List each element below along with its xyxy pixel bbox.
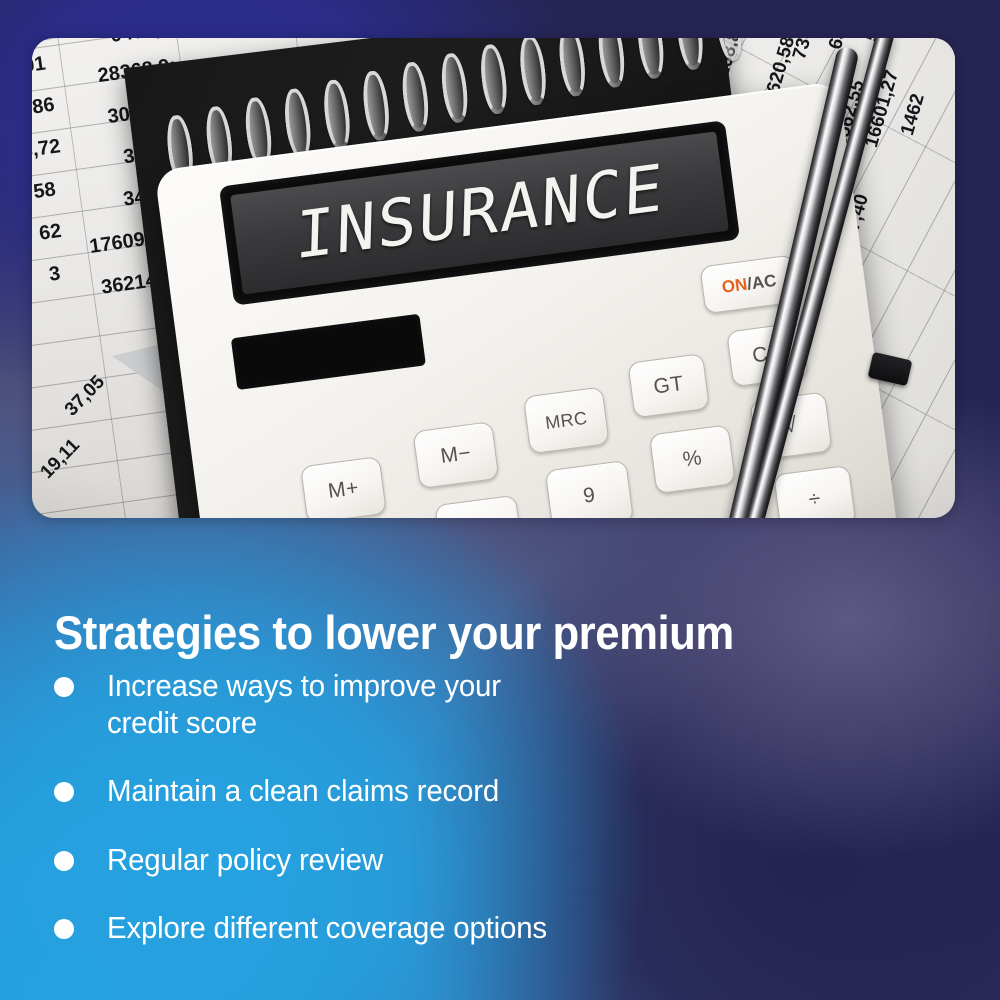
key-mrc[interactable]: MRC xyxy=(523,386,610,454)
key-ac-label: AC xyxy=(751,271,778,294)
page-title: Strategies to lower your premium xyxy=(54,609,734,658)
ledger-value: 62 xyxy=(38,220,63,246)
calculator-lcd: INSURANCE xyxy=(230,131,729,294)
list-item-label: Increase ways to improve your credit sco… xyxy=(107,668,501,741)
bullet-dot-icon xyxy=(54,677,74,697)
key-8[interactable]: 8 xyxy=(434,495,523,518)
spiral-ring xyxy=(713,38,745,62)
list-item: Explore different coverage options xyxy=(54,910,934,947)
solar-panel xyxy=(231,314,426,390)
spiral-ring xyxy=(321,78,353,150)
bullet-dot-icon xyxy=(54,851,74,871)
spiral-ring xyxy=(674,38,706,71)
list-item-label: Maintain a clean claims record xyxy=(107,773,499,810)
bullet-dot-icon xyxy=(54,919,74,939)
key-m-plus[interactable]: M+ xyxy=(300,456,387,518)
key-9[interactable]: 9 xyxy=(545,460,634,518)
slide-card: 0407,68 28368,9; 30330 3221 34252 176097… xyxy=(0,0,1000,1000)
key-on-label: ON xyxy=(721,275,749,298)
spiral-ring xyxy=(438,52,470,124)
list-item: Increase ways to improve your credit sco… xyxy=(54,668,934,741)
ledger-value: 9,86 xyxy=(32,94,56,122)
list-item-label: Regular policy review xyxy=(107,842,383,879)
spiral-ring xyxy=(595,38,627,89)
ledger-value: ,01 xyxy=(32,52,47,79)
key-gt[interactable]: GT xyxy=(627,353,710,418)
ledger-value: 3,72 xyxy=(32,135,62,163)
list-item: Maintain a clean claims record xyxy=(54,773,934,810)
spiral-ring xyxy=(634,38,666,80)
list-item: Regular policy review xyxy=(54,842,934,879)
ledger-value: 485,16 xyxy=(897,38,934,40)
ledger-value: 58 xyxy=(32,178,57,204)
list-item-label: Explore different coverage options xyxy=(107,910,547,947)
bullet-dot-icon xyxy=(54,782,74,802)
ledger-value: 0407,68 xyxy=(109,38,184,48)
spiral-ring xyxy=(360,70,392,142)
spiral-ring xyxy=(282,87,314,159)
spiral-ring xyxy=(399,61,431,133)
ledger-value: 1462 xyxy=(897,91,930,138)
key-percent[interactable]: % xyxy=(649,424,736,494)
calculator-display-text: INSURANCE xyxy=(294,151,665,274)
key-m-minus[interactable]: M− xyxy=(412,421,499,489)
strategy-list: Increase ways to improve your credit sco… xyxy=(54,668,934,971)
key-divide[interactable]: ÷ xyxy=(773,465,856,518)
hero-photo: 0407,68 28368,9; 30330 3221 34252 176097… xyxy=(32,38,955,518)
